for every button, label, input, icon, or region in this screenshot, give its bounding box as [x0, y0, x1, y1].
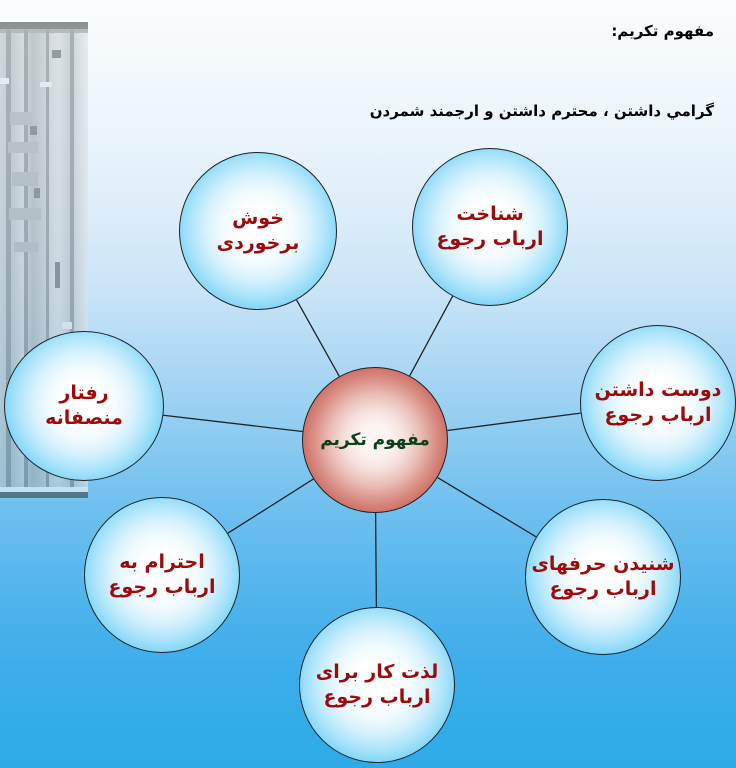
node-doost-dashtan[interactable]: دوست داشتنارباب رجوع	[580, 325, 736, 481]
node-lezzat-kar-line-2: ارباب رجوع	[324, 685, 431, 710]
slide-canvas: مفهوم تکریم: گرامي داشتن ، محترم داشتن و…	[0, 0, 736, 768]
node-khosh-barkhordi-line-2: برخوردی	[217, 231, 300, 256]
connector-lezzat-kar	[376, 513, 377, 607]
center-node[interactable]: مفهوم تکریم	[302, 367, 448, 513]
connector-doost-dashtan	[447, 413, 580, 430]
node-shenidan-harfha-line-1: شنیدن حرفهای	[531, 552, 674, 577]
node-doost-dashtan-line-2: ارباب رجوع	[605, 403, 712, 428]
node-lezzat-kar[interactable]: لذت کار برایارباب رجوع	[299, 607, 455, 763]
connector-shenakht	[410, 296, 453, 376]
node-ehteram-be-line-1: احترام به	[119, 550, 205, 575]
node-shenakht-line-2: ارباب رجوع	[437, 227, 544, 252]
node-shenakht-line-1: شناخت	[456, 202, 523, 227]
connector-ehteram-be	[228, 479, 313, 533]
node-shenakht[interactable]: شناختارباب رجوع	[412, 148, 568, 306]
node-khosh-barkhordi[interactable]: خوشبرخوردی	[179, 152, 337, 310]
node-raftar-monsefane-line-2: منصفانه	[45, 406, 123, 431]
node-raftar-monsefane-line-1: رفتار	[59, 381, 108, 406]
node-shenidan-harfha[interactable]: شنیدن حرفهایارباب رجوع	[525, 499, 681, 655]
node-khosh-barkhordi-line-1: خوش	[232, 206, 284, 231]
node-ehteram-be-line-2: ارباب رجوع	[109, 575, 216, 600]
connector-raftar-monsefane	[161, 415, 303, 432]
node-doost-dashtan-line-1: دوست داشتن	[595, 378, 722, 403]
connector-shenidan-harfha	[438, 478, 536, 537]
node-ehteram-be[interactable]: احترام بهارباب رجوع	[84, 497, 240, 653]
connector-khosh-barkhordi	[297, 300, 340, 376]
node-lezzat-kar-line-1: لذت کار برای	[316, 660, 438, 685]
center-node-line-1: مفهوم تکریم	[320, 429, 430, 451]
node-shenidan-harfha-line-2: ارباب رجوع	[550, 577, 657, 602]
node-raftar-monsefane[interactable]: رفتارمنصفانه	[4, 331, 164, 481]
